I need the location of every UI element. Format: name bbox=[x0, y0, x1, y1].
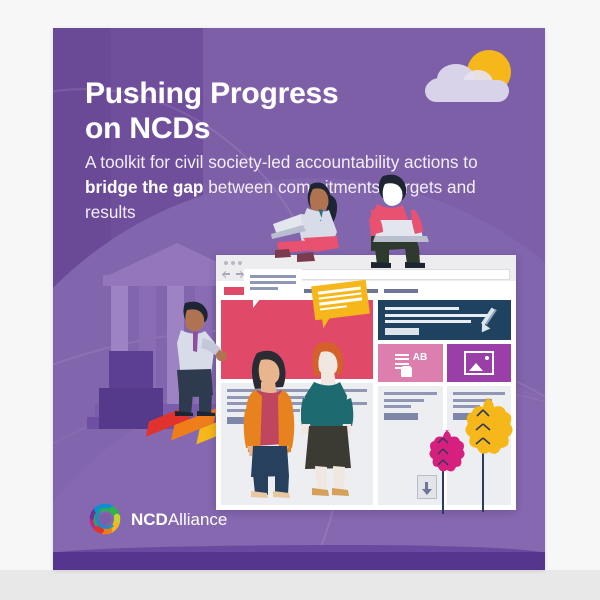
seated-woman-laptop bbox=[271, 178, 357, 268]
top bbox=[305, 382, 347, 427]
speech-bubble-tail bbox=[253, 299, 260, 308]
window-dot bbox=[238, 261, 242, 265]
standing-woman-orange bbox=[243, 348, 305, 498]
sun-cloud-icon bbox=[425, 50, 517, 108]
pen-nib bbox=[478, 323, 491, 335]
plant-leaf bbox=[465, 398, 512, 454]
speech-bubble-body bbox=[311, 280, 370, 321]
text-select-ab-label: AB bbox=[413, 353, 427, 363]
bubble-line bbox=[250, 275, 296, 278]
plant-pink bbox=[421, 428, 465, 514]
cursor-hand-icon bbox=[401, 366, 412, 377]
shoe bbox=[332, 488, 349, 496]
tile-row: AB bbox=[378, 344, 511, 382]
ncd-alliance-ring-icon bbox=[88, 502, 122, 536]
brand-name: NCDAlliance bbox=[131, 511, 227, 528]
bottom-band-light bbox=[53, 545, 545, 554]
subtitle-emphasis: bridge the gap bbox=[85, 177, 203, 197]
forward-arrow-icon[interactable] bbox=[235, 270, 244, 279]
window-control-dots bbox=[224, 261, 242, 265]
cover-card: Pushing Progress on NCDs A toolkit for c… bbox=[53, 28, 545, 570]
window-dot bbox=[224, 261, 228, 265]
bubble-line bbox=[250, 287, 278, 290]
text-line bbox=[384, 405, 411, 408]
text-line bbox=[385, 320, 471, 323]
cloud-base bbox=[425, 80, 509, 102]
standing-woman-teal bbox=[301, 340, 361, 498]
jeans bbox=[251, 446, 289, 477]
text-select-icon: AB bbox=[395, 353, 425, 373]
leg bbox=[333, 466, 345, 491]
text-select-line bbox=[395, 358, 409, 360]
text-line bbox=[384, 392, 437, 395]
text-select-line bbox=[395, 363, 409, 365]
brand-logo[interactable]: NCDAlliance bbox=[88, 502, 227, 536]
neck bbox=[321, 372, 336, 385]
ring-hole bbox=[99, 513, 111, 525]
window-dot bbox=[231, 261, 235, 265]
brand-name-bold: NCD bbox=[131, 510, 168, 529]
text-select-line bbox=[395, 354, 409, 356]
laptop-base bbox=[373, 236, 429, 242]
shoe bbox=[405, 262, 425, 268]
standing-man-suit bbox=[171, 300, 227, 416]
back-arrow-icon[interactable] bbox=[222, 270, 231, 279]
seated-man-laptop bbox=[353, 172, 445, 268]
letter-a: A bbox=[413, 352, 420, 363]
shoe bbox=[275, 249, 291, 258]
sleeve-left bbox=[244, 410, 254, 448]
text-line bbox=[385, 314, 490, 317]
bubble-line bbox=[320, 305, 347, 311]
page-lower-band bbox=[0, 570, 600, 600]
leg bbox=[315, 466, 327, 491]
pen-icon bbox=[475, 307, 501, 333]
speech-bubble-tail bbox=[322, 318, 331, 329]
skirt bbox=[305, 426, 351, 469]
sleeve-right bbox=[284, 410, 294, 448]
image-icon bbox=[464, 351, 494, 375]
bubble-line bbox=[250, 281, 296, 284]
leg bbox=[179, 392, 193, 415]
letter-b: B bbox=[420, 352, 427, 363]
plant-leaf bbox=[429, 430, 464, 471]
speech-bubble-white bbox=[244, 269, 302, 300]
text-line bbox=[384, 399, 424, 402]
card-navy[interactable] bbox=[378, 300, 511, 340]
shoe bbox=[371, 262, 391, 268]
card-navy-button[interactable] bbox=[385, 328, 419, 335]
brand-name-light: Alliance bbox=[168, 510, 228, 529]
download-button[interactable] bbox=[384, 413, 418, 420]
speech-bubble-yellow bbox=[311, 280, 370, 321]
card-purple[interactable] bbox=[447, 344, 512, 382]
card-pink[interactable]: AB bbox=[378, 344, 443, 382]
nav-item[interactable] bbox=[384, 289, 418, 293]
bottom-band-dark bbox=[53, 552, 545, 570]
shoe bbox=[297, 252, 315, 262]
page-title: Pushing Progress on NCDs bbox=[85, 76, 415, 147]
speech-bubble-body bbox=[244, 269, 302, 300]
subtitle-text-1: A toolkit for civil society-led accounta… bbox=[85, 152, 478, 172]
text-line bbox=[385, 307, 459, 310]
text-line bbox=[453, 392, 506, 395]
